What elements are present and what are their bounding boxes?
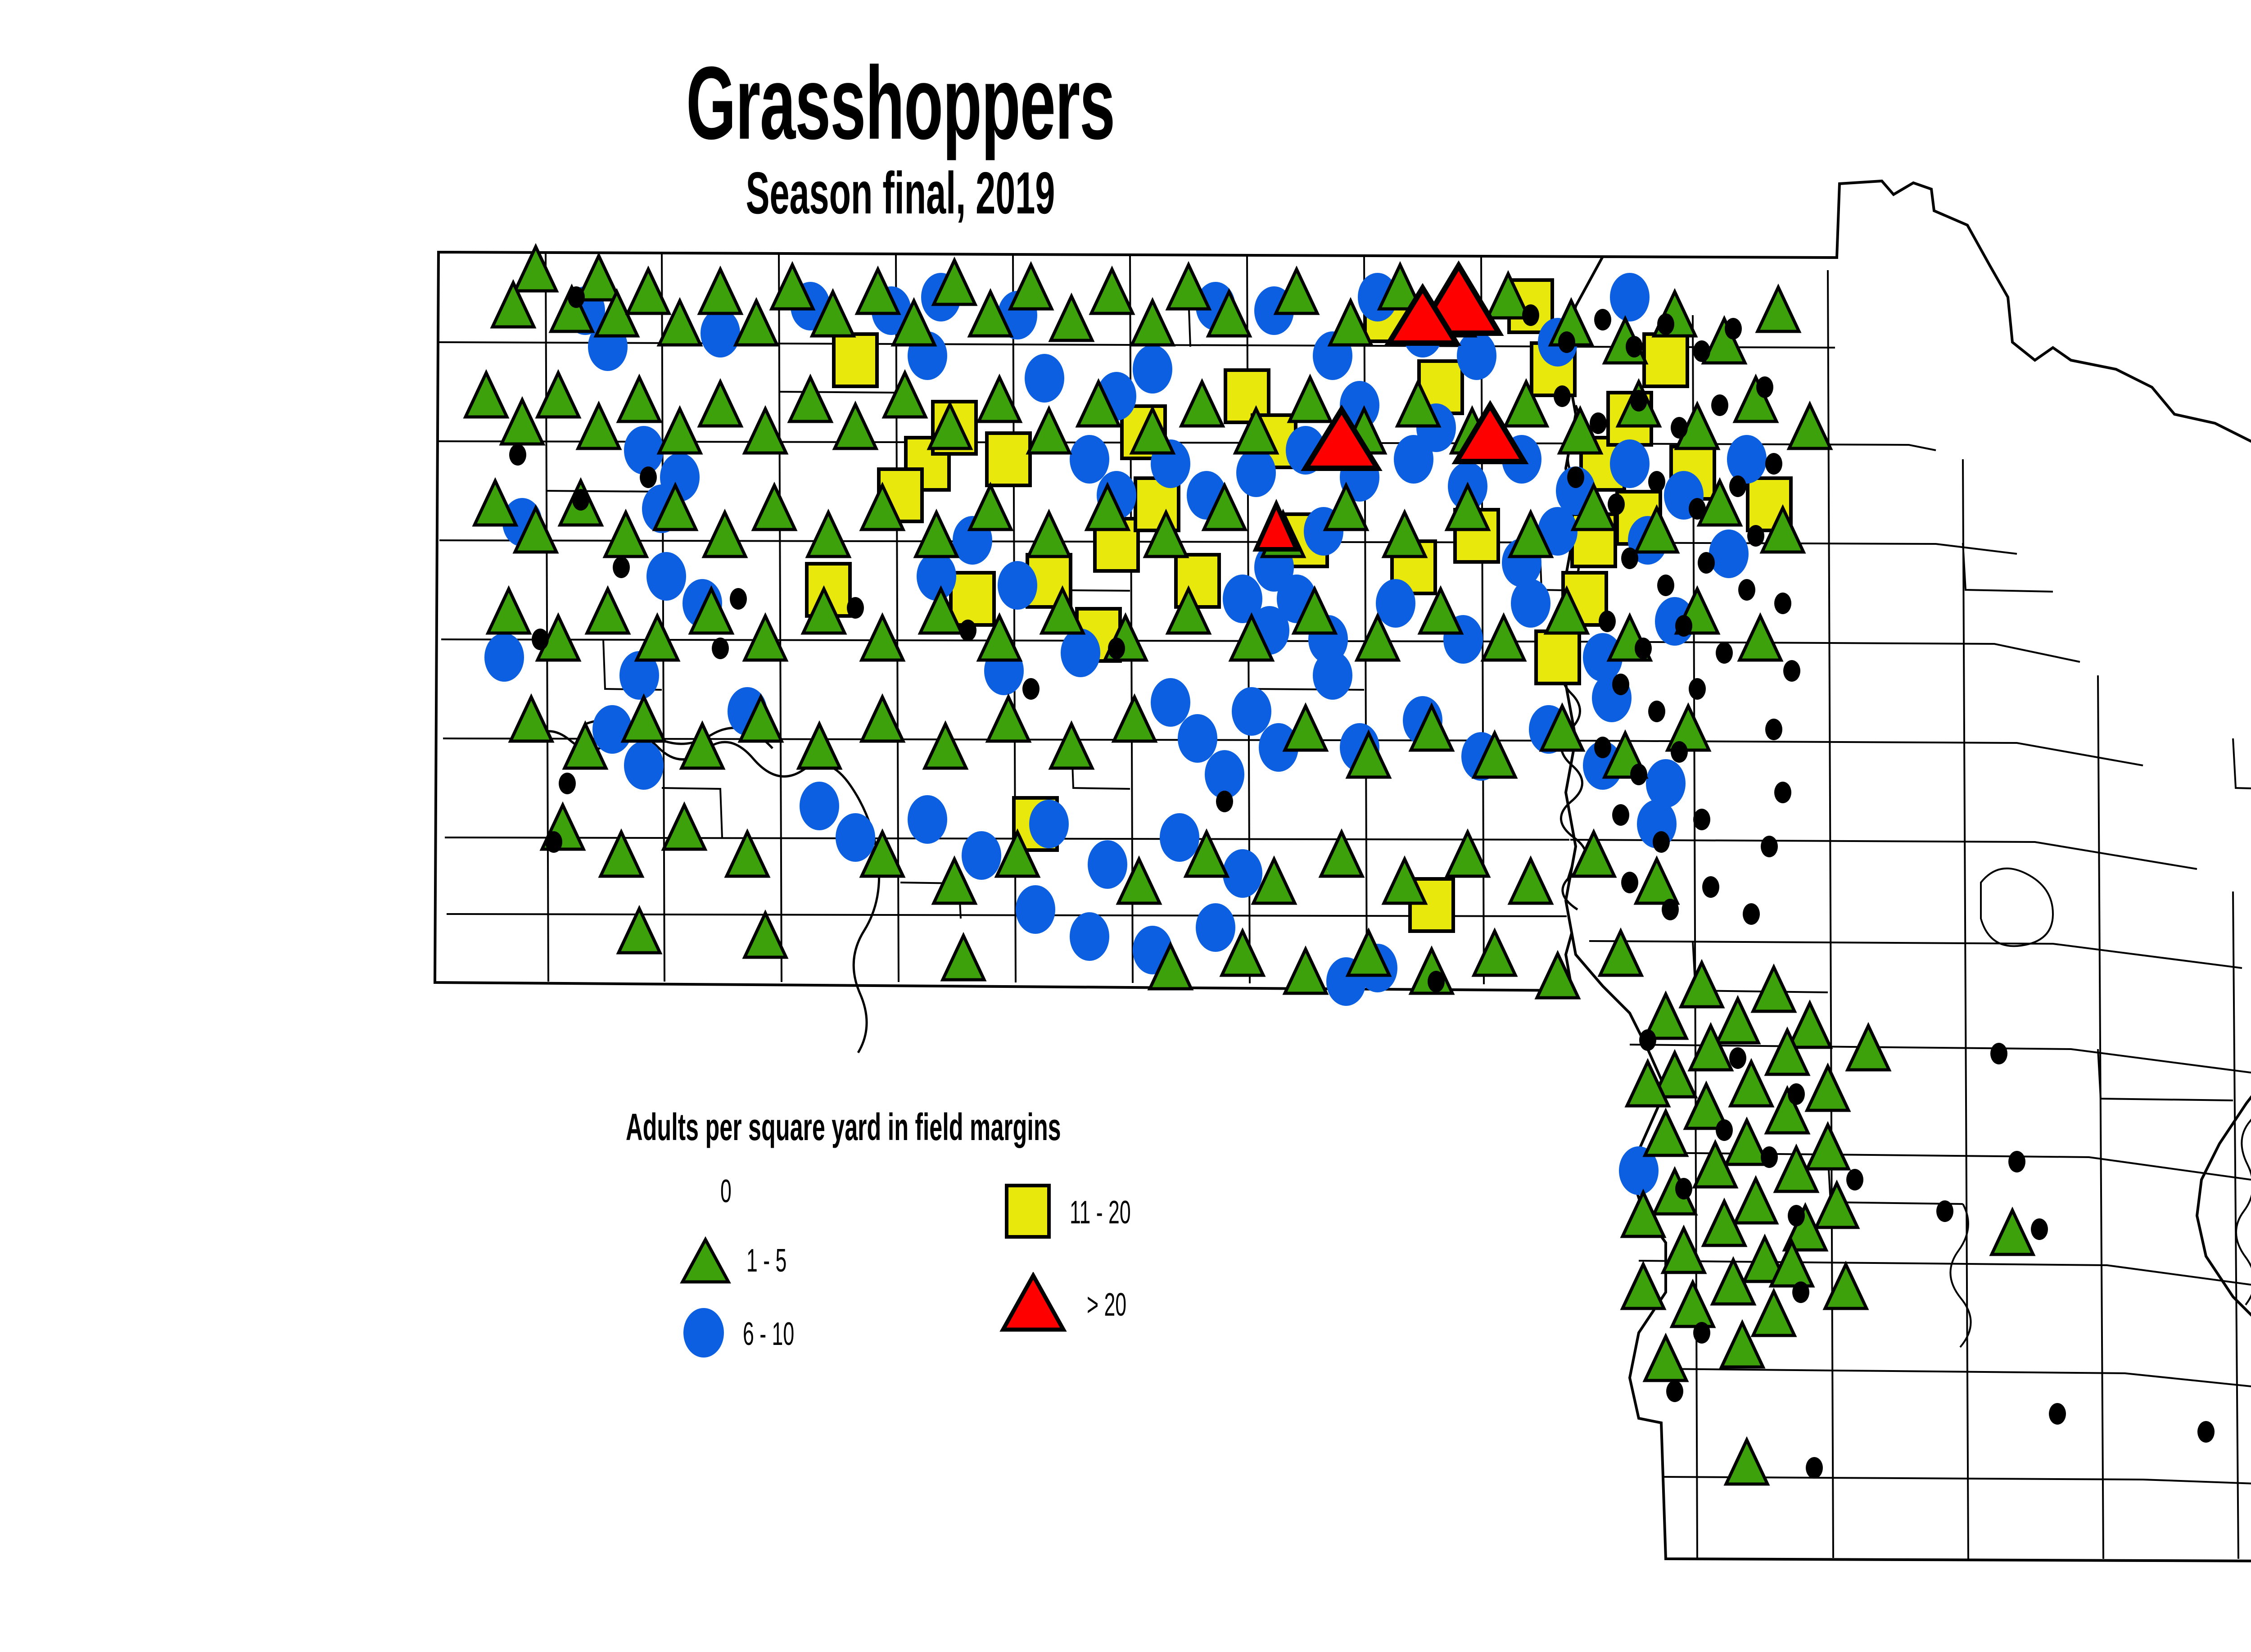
legend-label-1-5: 1 - 5 — [746, 1242, 786, 1279]
square-yellow-icon — [1004, 1183, 1052, 1242]
map-page: Grasshoppers Season final, 2019 — [0, 0, 2251, 1652]
legend-label-11-20: 11 - 20 — [1070, 1194, 1131, 1231]
legend-title: Adults per square yard in field margins — [626, 1105, 1061, 1149]
legend-label-0: 0 — [720, 1173, 732, 1210]
triangle-green-icon — [679, 1236, 732, 1285]
legend-label-gt-20: > 20 — [1087, 1286, 1126, 1323]
legend-label-6-10: 6 - 10 — [743, 1316, 794, 1353]
circle-blue-icon — [679, 1306, 728, 1362]
legend-item-6-10[interactable]: 6 - 10 — [679, 1306, 826, 1362]
legend: Adults per square yard in field margins … — [626, 1105, 1571, 1421]
legend-item-0[interactable]: 0 — [693, 1173, 738, 1210]
legend-item-1-5[interactable]: 1 - 5 — [679, 1236, 811, 1285]
legend-item-gt-20[interactable]: > 20 — [999, 1272, 1151, 1337]
legend-item-11-20[interactable]: 11 - 20 — [1004, 1183, 1168, 1242]
triangle-red-icon — [999, 1272, 1067, 1337]
